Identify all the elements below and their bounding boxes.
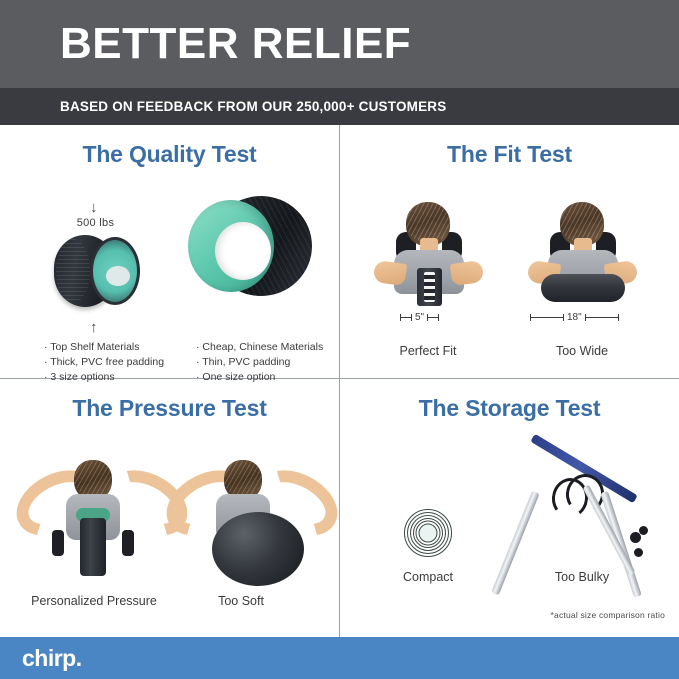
figure-hair: [74, 460, 112, 496]
measure-bar-right: [427, 317, 439, 318]
figure-arm-left: [373, 260, 408, 286]
storage-bad-caption: Too Bulky: [512, 570, 652, 584]
measure-bar-right: [585, 317, 619, 318]
compact-wheel-core: [419, 524, 438, 543]
fit-good-figure: [368, 198, 488, 308]
quality-test-body: ↓ 500 lbs ↑: [0, 168, 339, 374]
chirp-wheel-illustration: [80, 518, 106, 576]
wheel-face: [90, 237, 140, 305]
wheel-hub: [106, 266, 130, 286]
footer-bar: chirp.: [0, 637, 679, 679]
quality-good-product: ↓ 500 lbs ↑: [28, 200, 163, 335]
quality-test-title: The Quality Test: [0, 141, 339, 168]
figure-arm-right: [450, 260, 485, 286]
pressure-bad-caption: Too Soft: [176, 594, 306, 608]
storage-footnote: *actual size comparison ratio: [551, 610, 665, 620]
page-title: BETTER RELIEF: [60, 22, 411, 66]
pressure-good-caption: Personalized Pressure: [4, 594, 184, 608]
fit-bad-measurement: 18": [530, 312, 619, 323]
fit-good-measurement: 5": [400, 312, 439, 323]
wheel-tread: [56, 239, 90, 303]
fit-bad-figure: [522, 198, 642, 308]
list-item: · Thin, PVC padding: [196, 355, 323, 370]
arrow-up-icon: ↑: [90, 320, 98, 335]
knob-icon: [634, 548, 643, 557]
bad-wheel-hole: [215, 222, 271, 280]
pressure-bad-figure: [166, 450, 316, 560]
fit-test-body: 5" Perfect Fit 18": [340, 168, 679, 374]
storage-good-caption: Compact: [358, 570, 498, 584]
header-banner: BETTER RELIEF: [0, 0, 679, 88]
brand-logo: chirp.: [22, 645, 82, 672]
pressure-test-body: Personalized Pressure Too Soft: [0, 422, 339, 628]
pressure-good-figure: [16, 450, 166, 560]
measure-value: 18": [567, 312, 582, 323]
knob-icon: [639, 526, 648, 535]
header-subtitle-bar: BASED ON FEEDBACK FROM OUR 250,000+ CUST…: [0, 88, 679, 125]
arrow-down-icon: ↓: [90, 200, 98, 215]
pressure-test-title: The Pressure Test: [0, 395, 339, 422]
storage-test-title: The Storage Test: [340, 395, 679, 422]
measure-bar-left: [530, 317, 564, 318]
comparison-grid: The Quality Test ↓ 500 lbs ↑: [0, 125, 679, 637]
list-item: · Top Shelf Materials: [44, 340, 164, 355]
inversion-table-illustration: [508, 436, 668, 586]
wide-roller-illustration: [541, 274, 625, 302]
figure-hair: [406, 202, 450, 242]
measure-bar-left: [400, 317, 412, 318]
compact-wheel-icon: [405, 510, 451, 556]
fit-bad-caption: Too Wide: [512, 344, 652, 358]
bad-wheel-inner-face: [188, 200, 274, 292]
load-label: 500 lbs: [28, 217, 163, 229]
panel-pressure-test: The Pressure Test Personalized Pressure: [0, 379, 339, 632]
fit-test-title: The Fit Test: [340, 141, 679, 168]
figure-hair: [224, 460, 262, 496]
measure-value: 5": [415, 312, 424, 323]
fit-good-caption: Perfect Fit: [358, 344, 498, 358]
panel-quality-test: The Quality Test ↓ 500 lbs ↑: [0, 125, 339, 378]
list-item: · Thick, PVC free padding: [44, 355, 164, 370]
quality-bad-product: [188, 196, 312, 300]
panel-storage-test: The Storage Test Compact: [340, 379, 679, 632]
figure-hair: [560, 202, 604, 242]
header-subtitle: BASED ON FEEDBACK FROM OUR 250,000+ CUST…: [60, 99, 446, 114]
panel-fit-test: The Fit Test 5" P: [340, 125, 679, 378]
infographic-page: BETTER RELIEF BASED ON FEEDBACK FROM OUR…: [0, 0, 679, 679]
narrow-wheel-illustration: [417, 268, 442, 306]
list-item: · Cheap, Chinese Materials: [196, 340, 323, 355]
chirp-wheel-illustration: [54, 235, 140, 307]
exercise-ball-illustration: [212, 512, 304, 586]
storage-test-body: Compact Too Bulky *actual size compariso…: [340, 422, 679, 628]
